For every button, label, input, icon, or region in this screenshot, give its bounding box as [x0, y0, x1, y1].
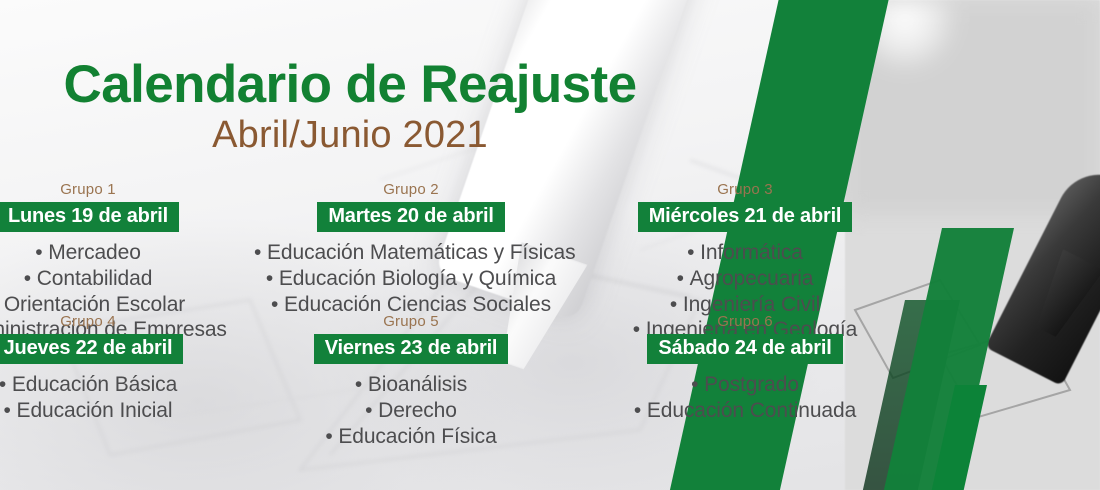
- group-label-4: Grupo 4: [0, 314, 238, 331]
- group-items-2: Educación Matemáticas y Físicas Educació…: [254, 240, 568, 317]
- list-item: Informática: [592, 240, 898, 266]
- group-items-4: Educación Básica Educación Inicial: [0, 372, 238, 424]
- group-card-2: Grupo 2 Martes 20 de abril Educación Mat…: [238, 182, 568, 312]
- list-item: Educación Básica: [0, 372, 238, 398]
- group-label-3: Grupo 3: [592, 182, 898, 199]
- group-label-5: Grupo 5: [254, 314, 568, 331]
- group-date-badge-3: Miércoles 21 de abril: [638, 202, 853, 232]
- list-item: Educación Física: [254, 424, 568, 450]
- list-item: Educación Matemáticas y Físicas: [254, 240, 568, 266]
- group-date-badge-5: Viernes 23 de abril: [314, 334, 509, 364]
- group-items-5: Bioanálisis Derecho Educación Física: [254, 372, 568, 449]
- group-card-5: Grupo 5 Viernes 23 de abril Bioanálisis …: [238, 314, 568, 449]
- group-date-badge-4: Jueves 22 de abril: [0, 334, 183, 364]
- group-grid: Grupo 1 Lunes 19 de abril Mercadeo Conta…: [0, 182, 898, 449]
- page-title: Calendario de Reajuste: [0, 58, 700, 112]
- group-card-3: Grupo 3 Miércoles 21 de abril Informátic…: [568, 182, 898, 312]
- group-date-badge-6: Sábado 24 de abril: [647, 334, 842, 364]
- group-label-6: Grupo 6: [592, 314, 898, 331]
- list-item: Educación Continuada: [592, 398, 898, 424]
- group-card-4: Grupo 4 Jueves 22 de abril Educación Bás…: [0, 314, 238, 449]
- poster-header: Calendario de Reajuste Abril/Junio 2021: [0, 58, 700, 155]
- list-item: Bioanálisis: [254, 372, 568, 398]
- list-item: Agropecuaria: [592, 266, 898, 292]
- list-item: Contabilidad: [0, 266, 238, 292]
- list-item: Educación Biología y Química: [254, 266, 568, 292]
- calendar-poster: Calendario de Reajuste Abril/Junio 2021 …: [0, 0, 1100, 490]
- list-item: Postgrado: [592, 372, 898, 398]
- group-label-1: Grupo 1: [0, 182, 238, 199]
- list-item: Educación Inicial: [0, 398, 238, 424]
- page-subtitle: Abril/Junio 2021: [0, 116, 700, 155]
- group-card-6: Grupo 6 Sábado 24 de abril Postgrado Edu…: [568, 314, 898, 449]
- group-items-6: Postgrado Educación Continuada: [592, 372, 898, 424]
- group-date-badge-1: Lunes 19 de abril: [0, 202, 179, 232]
- group-card-1: Grupo 1 Lunes 19 de abril Mercadeo Conta…: [0, 182, 238, 312]
- group-date-badge-2: Martes 20 de abril: [317, 202, 504, 232]
- group-label-2: Grupo 2: [254, 182, 568, 199]
- list-item: Mercadeo: [0, 240, 238, 266]
- list-item: Derecho: [254, 398, 568, 424]
